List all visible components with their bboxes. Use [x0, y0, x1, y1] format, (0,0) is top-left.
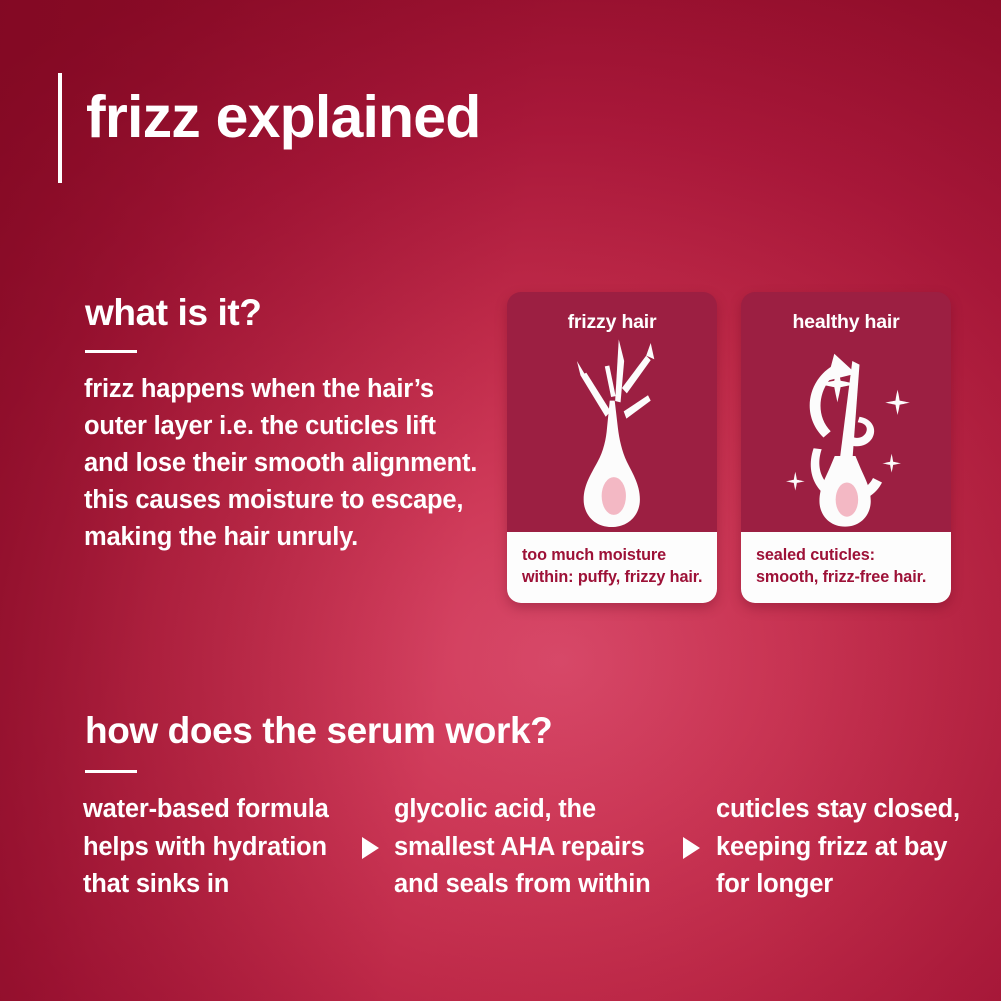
paragraph-line: frizz happens when the hair’s — [84, 371, 477, 408]
paragraph-line: outer layer i.e. the cuticles lift — [84, 408, 477, 445]
paragraph-line: and lose their smooth alignment. — [84, 445, 477, 482]
paragraph-what-is-it: frizz happens when the hair’s outer laye… — [84, 371, 477, 556]
healthy-hair-sealed-cuticle-icon — [741, 334, 951, 532]
card-caption: too much moisture within: puffy, frizzy … — [507, 532, 717, 603]
step-1: water-based formula helps with hydration… — [83, 791, 329, 904]
card-caption-line: too much moisture — [522, 544, 717, 566]
step-line: water-based formula — [83, 791, 329, 829]
step-line: that sinks in — [83, 866, 329, 904]
card-caption-line: smooth, frizz-free hair. — [756, 566, 951, 588]
step-line: keeping frizz at bay — [716, 829, 960, 867]
section-heading-what-is-it: what is it? — [85, 292, 262, 334]
card-title: healthy hair — [741, 292, 951, 334]
paragraph-line: this causes moisture to escape, — [84, 482, 477, 519]
step-3: cuticles stay closed, keeping frizz at b… — [716, 791, 960, 904]
card-title: frizzy hair — [507, 292, 717, 334]
step-line: glycolic acid, the — [394, 791, 651, 829]
divider-how-serum-works — [85, 770, 137, 773]
card-caption-line: within: puffy, frizzy hair. — [522, 566, 717, 588]
card-healthy-hair[interactable]: healthy hair — [741, 292, 951, 603]
page-title-block: frizz explained — [58, 73, 481, 183]
card-caption: sealed cuticles: smooth, frizz-free hair… — [741, 532, 951, 603]
paragraph-line: making the hair unruly. — [84, 519, 477, 556]
card-caption-line: sealed cuticles: — [756, 544, 951, 566]
section-heading-how-serum-works: how does the serum work? — [85, 710, 552, 752]
step-line: and seals from within — [394, 866, 651, 904]
step-line: cuticles stay closed, — [716, 791, 960, 829]
divider-what-is-it — [85, 350, 137, 353]
title-accent-bar — [58, 73, 62, 183]
infographic-stage: frizz explained what is it? frizz happen… — [0, 0, 1001, 1001]
step-line: smallest AHA repairs — [394, 829, 651, 867]
card-frizzy-hair[interactable]: frizzy hair — [507, 292, 717, 603]
frizzy-hair-follicle-icon — [507, 334, 717, 532]
step-2: glycolic acid, the smallest AHA repairs … — [394, 791, 651, 904]
arrow-right-triangle-icon — [683, 837, 700, 859]
page-title: frizz explained — [86, 87, 481, 149]
step-line: helps with hydration — [83, 829, 329, 867]
step-line: for longer — [716, 866, 960, 904]
arrow-right-triangle-icon — [362, 837, 379, 859]
